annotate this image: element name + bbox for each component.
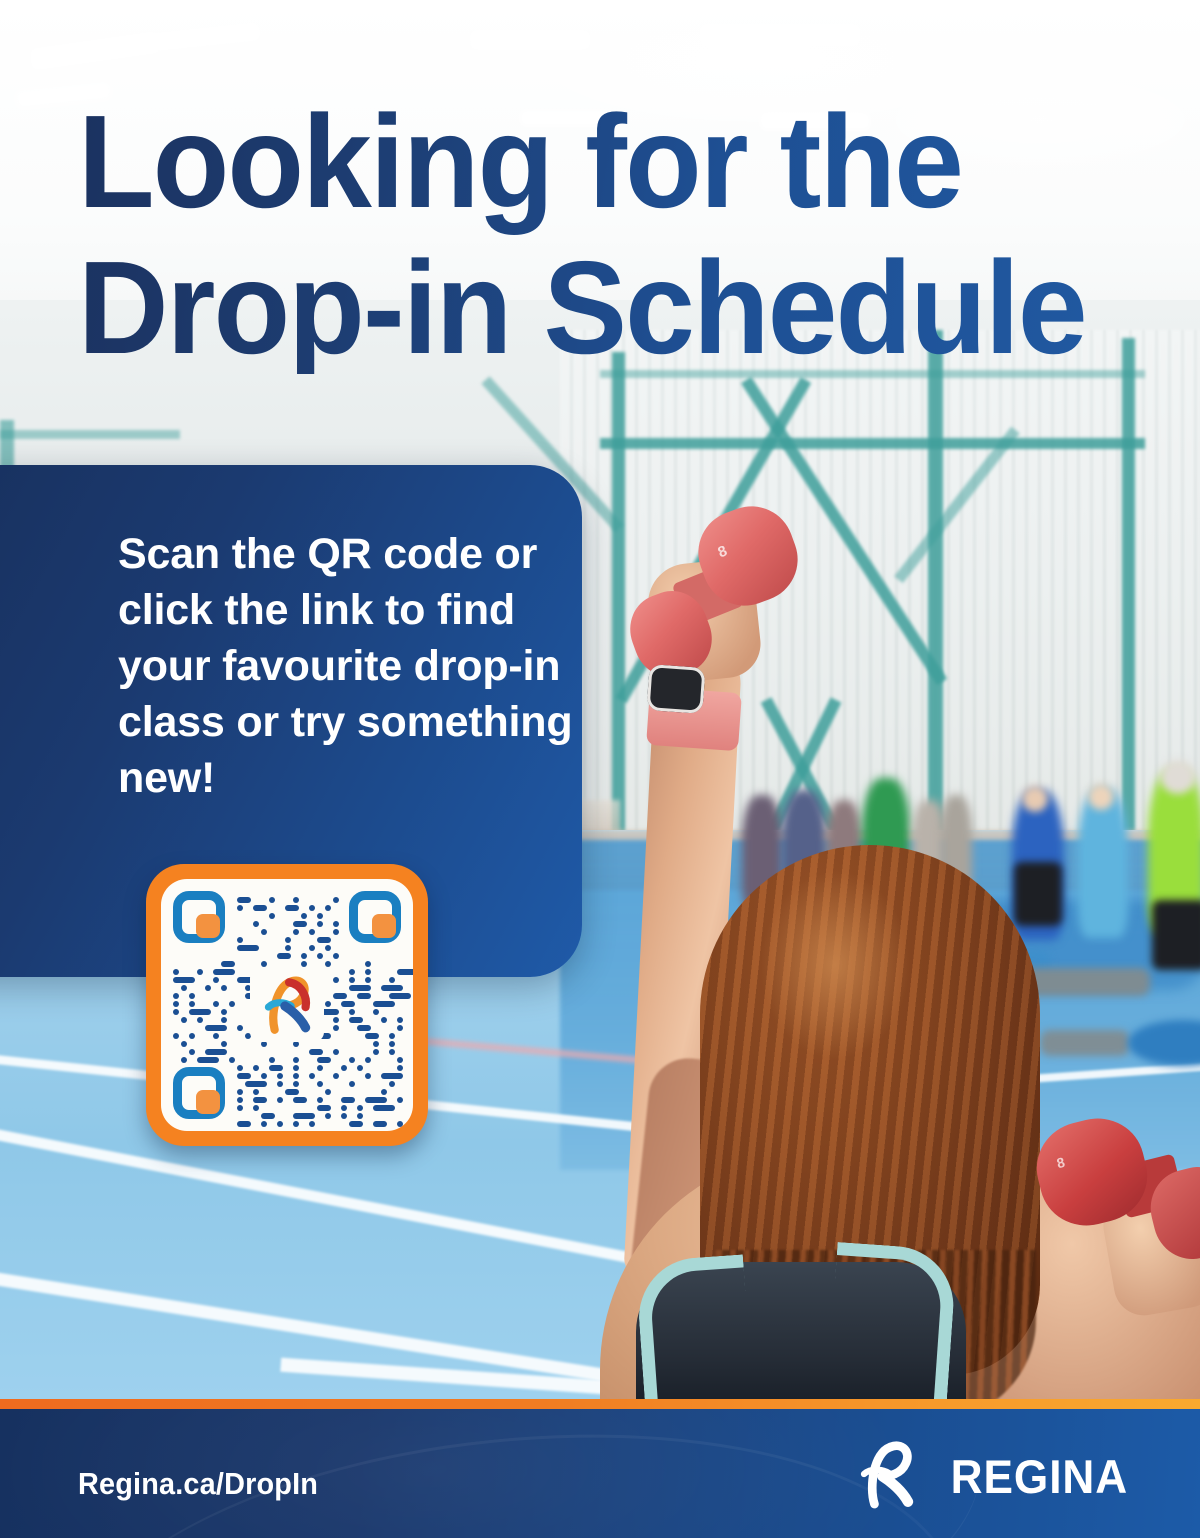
page-title: Looking for the Drop-in Schedule? — [78, 96, 1085, 374]
accent-bar — [0, 1399, 1200, 1409]
fitness-watch-face — [646, 664, 705, 714]
cta-card-body-text: Scan the QR code or click the link to fi… — [118, 527, 588, 806]
class-participant-head — [1088, 784, 1114, 810]
exercise-mat — [1020, 968, 1150, 996]
structural-beam — [0, 430, 180, 439]
class-participant-head — [1022, 786, 1048, 812]
qr-finder-core — [196, 914, 220, 938]
brand-lockup: REGINA — [849, 1437, 1134, 1516]
structural-column — [1122, 338, 1135, 838]
footer-url[interactable]: Regina.ca/DropIn — [78, 1466, 318, 1502]
poster-canvas: 8 8 Looking for the Drop-in Schedule? Sc… — [0, 0, 1200, 1538]
exercise-mat — [1040, 1030, 1130, 1056]
regina-r-logo-icon — [250, 968, 324, 1042]
hair-highlight — [760, 870, 910, 1060]
qr-finder-core — [372, 914, 396, 938]
class-participant — [1078, 788, 1128, 938]
class-participant-head — [1160, 760, 1196, 794]
class-participant-legs — [1014, 862, 1062, 926]
class-participant-legs — [1152, 900, 1200, 970]
ceiling-light — [470, 30, 590, 50]
regina-r-logo-icon — [849, 1437, 923, 1516]
structural-column — [928, 330, 943, 860]
headline-line-1: Looking for the — [78, 96, 1085, 228]
qr-finder-core — [196, 1090, 220, 1114]
ceiling-light — [700, 24, 860, 46]
tank-top-strap-right — [827, 1242, 958, 1400]
qr-code[interactable] — [146, 864, 428, 1146]
structural-beam — [600, 438, 1145, 449]
structural-column — [612, 352, 625, 872]
headline-line-2: Drop-in Schedule? — [78, 242, 1085, 374]
qr-code-inner — [161, 879, 413, 1131]
brand-wordmark: REGINA — [951, 1449, 1128, 1504]
